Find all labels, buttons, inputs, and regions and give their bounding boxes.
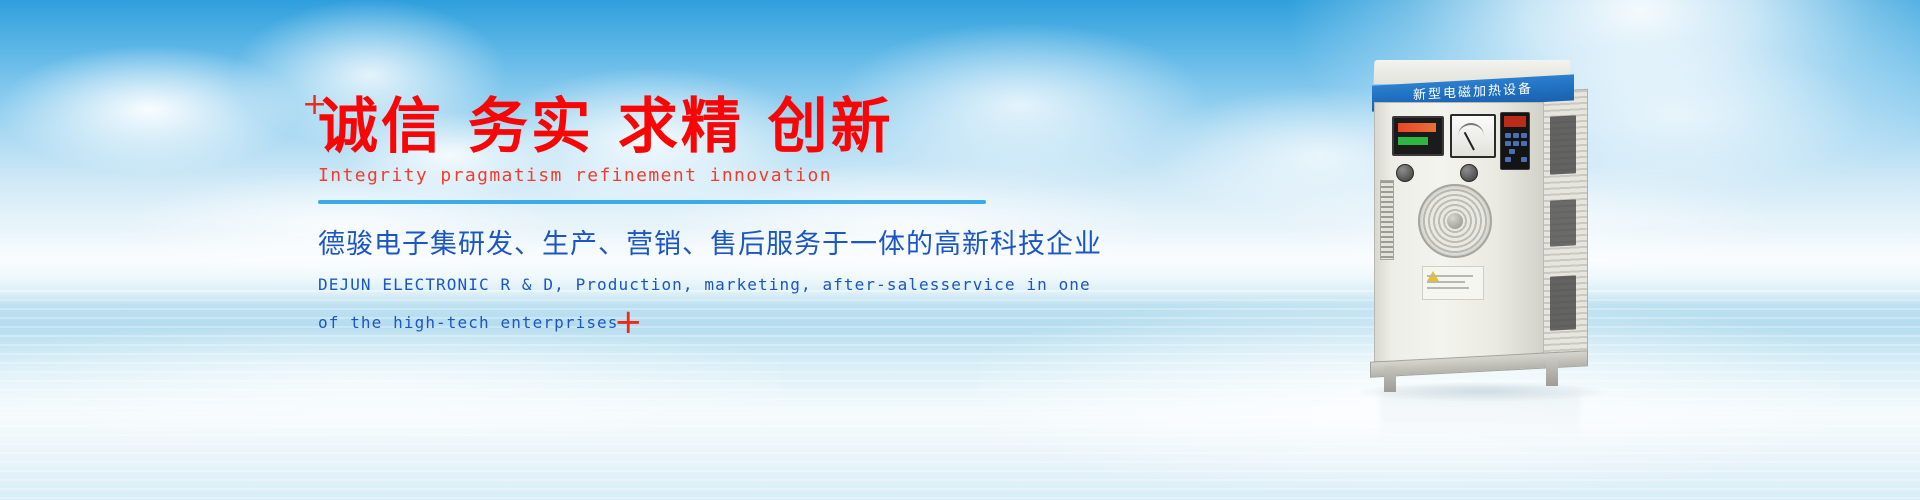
digital-readout-primary	[1398, 123, 1436, 132]
tagline-chinese: 德骏电子集研发、生产、营销、售后服务于一体的高新科技企业	[318, 222, 1018, 261]
gauge-scale-arc	[1458, 123, 1484, 138]
machine-fan-grille-icon	[1418, 184, 1492, 258]
tagline-english-line-1: DEJUN ELECTRONIC R & D, Production, mark…	[318, 271, 1018, 299]
machine-keypad-controller	[1500, 112, 1530, 170]
keypad-button	[1521, 133, 1527, 138]
machine-warning-label	[1422, 266, 1484, 300]
banner-copy: 诚信 务实 求精 创新 Integrity pragmatism refinem…	[318, 96, 1018, 337]
keypad-button	[1513, 133, 1519, 138]
headline-english: Integrity pragmatism refinement innovati…	[318, 165, 1018, 186]
sea-highlight-left	[0, 330, 780, 440]
keypad-button	[1505, 157, 1511, 162]
keypad-button	[1521, 157, 1527, 162]
headline-chinese: 诚信 务实 求精 创新	[318, 96, 1018, 159]
machine-analog-gauge	[1450, 114, 1496, 158]
machine-face-vent-strip	[1380, 180, 1394, 260]
keypad-button	[1513, 141, 1519, 146]
keypad-button	[1509, 149, 1515, 154]
label-text-line	[1427, 275, 1473, 277]
keypad-button	[1521, 141, 1527, 146]
machine-reflection	[1380, 390, 1580, 442]
label-text-line	[1427, 287, 1469, 289]
machine-digital-display	[1392, 116, 1444, 156]
tagline-english-line-2: of the high-tech enterprises	[318, 309, 1018, 337]
machine-vent-block	[1550, 199, 1576, 246]
machine-leg	[1546, 360, 1558, 386]
divider-rule	[318, 200, 986, 204]
machine-vent-block	[1550, 275, 1576, 330]
machine-knob	[1460, 164, 1478, 182]
product-machine-image: 新型电磁加热设备	[1370, 60, 1600, 390]
machine-leg	[1384, 366, 1396, 392]
keypad-button	[1505, 141, 1511, 146]
digital-readout-secondary	[1398, 137, 1428, 145]
machine-knob	[1396, 164, 1414, 182]
keypad-screen	[1504, 116, 1526, 127]
machine-vent-block	[1550, 115, 1576, 174]
keypad-button	[1505, 133, 1511, 138]
label-text-line	[1427, 281, 1465, 283]
hero-banner: + + 诚信 务实 求精 创新 Integrity pragmatism ref…	[0, 0, 1920, 500]
